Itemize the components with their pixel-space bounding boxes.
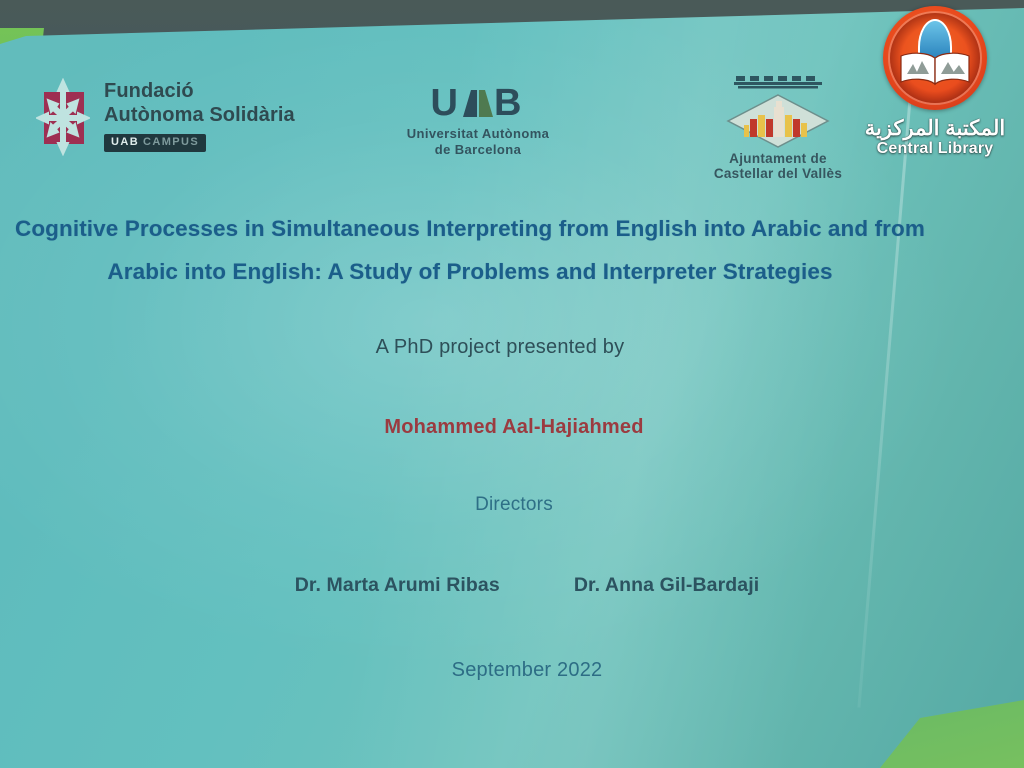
author-name: Mohammed Aal-Hajiahmed: [0, 416, 1024, 439]
directors-label: Directors: [0, 494, 1024, 516]
university-seal-icon: [883, 6, 987, 110]
screenshot-root: Fundació Autònoma Solidària UABCAMPUS UB…: [0, 0, 1024, 768]
central-library-watermark: المكتبة المركزية Central Library: [860, 6, 1010, 158]
slide-title-line-2: Arabic into English: A Study of Problems…: [0, 251, 940, 294]
directors-row: Dr. Marta Arumi Ribas Dr. Anna Gil-Barda…: [0, 574, 1024, 597]
ajuntament-subtitle-1: Ajuntament de: [668, 151, 888, 166]
open-book-icon: [897, 50, 973, 88]
uab-mark-a-glyph: [463, 90, 493, 117]
director-name-2: Dr. Anna Gil-Bardaji: [574, 574, 759, 597]
slide-date: September 2022: [0, 659, 1024, 682]
uab-lettermark-icon: UB: [431, 84, 526, 122]
director-name-1: Dr. Marta Arumi Ribas: [295, 574, 500, 597]
fas-campus-badge: UABCAMPUS: [104, 134, 206, 152]
uab-subtitle-1: Universitat Autònoma: [378, 126, 578, 141]
logo-row: Fundació Autònoma Solidària UABCAMPUS UB…: [0, 66, 900, 184]
castellar-coat-of-arms-icon: [726, 93, 830, 149]
fundacio-autonoma-solidaria-logo: Fundació Autònoma Solidària UABCAMPUS: [36, 70, 295, 156]
fas-badge-secondary: CAMPUS: [143, 136, 199, 148]
fas-emblem-icon: [36, 78, 90, 156]
fas-badge-primary: UAB: [111, 136, 139, 148]
ajuntament-castellar-del-valles-logo: Ajuntament de Castellar del Vallès: [668, 74, 888, 181]
watermark-arabic-text: المكتبة المركزية: [860, 117, 1010, 140]
slide-title-line-1: Cognitive Processes in Simultaneous Inte…: [0, 208, 940, 251]
presented-by-label: A PhD project presented by: [0, 336, 1000, 359]
mural-crown-icon: [732, 74, 824, 90]
ajuntament-subtitle-2: Castellar del Vallès: [668, 166, 888, 181]
watermark-english-text: Central Library: [860, 140, 1010, 158]
uab-mark-left: U: [431, 82, 462, 124]
slide-title: Cognitive Processes in Simultaneous Inte…: [0, 208, 940, 294]
fas-line-2: Autònoma Solidària: [104, 104, 295, 128]
fas-line-1: Fundació: [104, 80, 295, 104]
universitat-autonoma-de-barcelona-logo: UB Universitat Autònoma de Barcelona: [378, 84, 578, 157]
uab-mark-right: B: [494, 82, 525, 124]
uab-subtitle-2: de Barcelona: [378, 142, 578, 157]
